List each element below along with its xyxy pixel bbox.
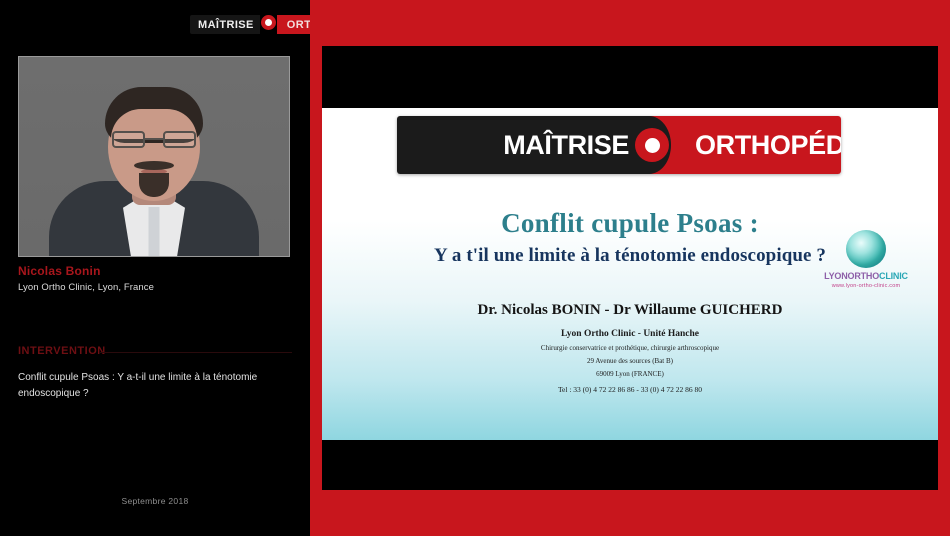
slide-affiliation-line-4: 69009 Lyon (FRANCE) bbox=[322, 370, 938, 378]
speaker-name: Nicolas Bonin bbox=[18, 264, 101, 278]
slide-logo-right-block: ORTHOPÉDIQUE bbox=[649, 116, 841, 174]
slide-logo-left-block: MAÎTRISE bbox=[397, 116, 649, 174]
divider bbox=[100, 352, 292, 353]
logo-text-maitrise: MAÎTRISE bbox=[198, 19, 254, 31]
slide-frame: MAÎTRISE ORTHOPÉDIQUE Conflit cupule Pso… bbox=[310, 0, 950, 536]
player-stage: MAÎTRISE ORTHOPÉDIQUE bbox=[0, 0, 950, 536]
slide-affiliation-line-5: Tel : 33 (0) 4 72 22 86 86 - 33 (0) 4 72… bbox=[322, 385, 938, 394]
clinic-name: LYONORTHOCLINIC bbox=[808, 271, 924, 281]
slide-affiliation-line-3: 29 Avenue des sources (Bat B) bbox=[322, 357, 938, 365]
session-label: INTERVENTION bbox=[18, 345, 106, 357]
lyon-ortho-clinic-logo: LYONORTHOCLINIC www.lyon-ortho-clinic.co… bbox=[808, 230, 924, 289]
circle-dot-icon bbox=[635, 128, 669, 162]
circle-dot-icon bbox=[261, 15, 276, 30]
clinic-url: www.lyon-ortho-clinic.com bbox=[808, 283, 924, 289]
glasses-icon bbox=[112, 131, 196, 148]
speaker-affiliation: Lyon Ortho Clinic, Lyon, France bbox=[18, 282, 154, 293]
slide-logo-text-orthopedique: ORTHOPÉDIQUE bbox=[695, 130, 841, 161]
slide-letterbox: MAÎTRISE ORTHOPÉDIQUE Conflit cupule Pso… bbox=[322, 46, 938, 490]
circle-logo-icon bbox=[846, 230, 886, 268]
speaker-sidebar: Nicolas Bonin Lyon Ortho Clinic, Lyon, F… bbox=[0, 46, 310, 536]
session-date: Septembre 2018 bbox=[0, 496, 310, 506]
slide-affiliation-line-1: Lyon Ortho Clinic - Unité Hanche bbox=[322, 329, 938, 339]
slide-logo-text-maitrise: MAÎTRISE bbox=[503, 130, 629, 161]
session-title: Conflit cupule Psoas : Y a-t-il une limi… bbox=[18, 370, 282, 401]
logo-left-block: MAÎTRISE bbox=[190, 15, 260, 34]
slide-authors: Dr. Nicolas BONIN - Dr Willaume GUICHERD bbox=[322, 302, 938, 319]
maitrise-orthopedique-logo-slide: MAÎTRISE ORTHOPÉDIQUE bbox=[397, 116, 841, 174]
speaker-portrait bbox=[18, 56, 290, 257]
slide-affiliation-line-2: Chirurgie conservatrice et prothétique, … bbox=[322, 344, 938, 352]
clinic-name-part-2: CLINIC bbox=[879, 271, 908, 281]
slide-content: MAÎTRISE ORTHOPÉDIQUE Conflit cupule Pso… bbox=[322, 108, 938, 440]
clinic-name-part-1: LYONORTHO bbox=[824, 271, 879, 281]
